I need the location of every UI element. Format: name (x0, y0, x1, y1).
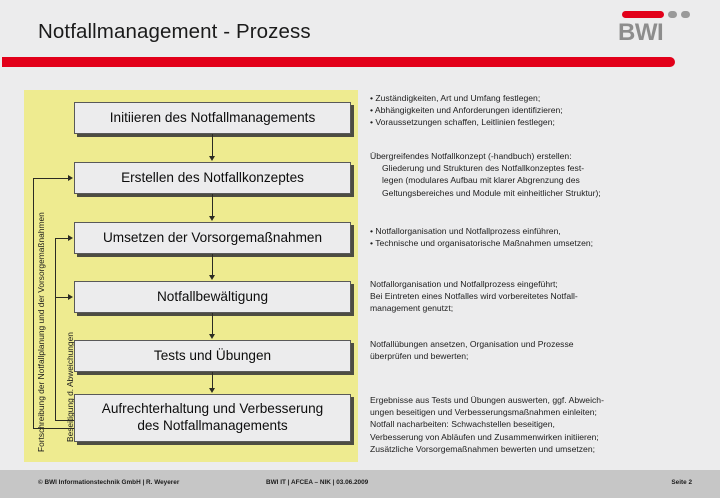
connector-1-2 (212, 134, 213, 157)
arrow-1-2-icon (209, 156, 215, 161)
note-block-3: • Notfallorganisation und Notfallprozess… (370, 225, 710, 249)
page-title: Notfallmanagement - Prozess (38, 20, 311, 44)
note-block-2: Übergreifendes Notfallkonzept (-handbuch… (370, 150, 710, 199)
process-step-6-line-2: des Notfallmanagements (137, 418, 287, 435)
arrow-3-4-icon (209, 275, 215, 280)
footer-event-info: BWI IT | AFCEA – NIK | 03.06.2009 (266, 479, 368, 486)
note-line: management genutzt; (370, 302, 710, 314)
footer-copyright: © BWI Informationstechnik GmbH | R. Weye… (38, 479, 179, 486)
footer-page-number: Seite 2 (671, 479, 692, 486)
note-line: Verbesserung von Abläufen und Zusammenwi… (370, 431, 710, 443)
note-line: • Technische und organisatorische Maßnah… (370, 237, 710, 249)
slide-footer: © BWI Informationstechnik GmbH | R. Weye… (0, 470, 720, 498)
note-line: • Notfallorganisation und Notfallprozess… (370, 225, 710, 237)
feedback-outer-left (33, 178, 34, 428)
connector-3-4 (212, 254, 213, 276)
note-block-4: Notfallorganisation und Notfallprozess e… (370, 278, 710, 315)
title-divider-rule (2, 57, 675, 67)
feedback-inner-arrow-3-icon (68, 235, 73, 241)
slide: Notfallmanagement - Prozess BWI Fortschr… (0, 0, 720, 498)
feedback-outer-arrow-icon (68, 175, 73, 181)
logo-dot-2-icon (681, 11, 690, 18)
feedback-outer-bottom (33, 428, 74, 429)
note-line: Geltungsbereiches und Module mit einheit… (370, 187, 710, 199)
logo-red-bar-icon (622, 11, 664, 18)
note-line: Übergreifendes Notfallkonzept (-handbuch… (370, 150, 710, 162)
note-line: legen (modulares Aufbau mit klarer Abgre… (370, 174, 710, 186)
note-line: Ergebnisse aus Tests und Übungen auswert… (370, 394, 710, 406)
note-line: • Voraussetzungen schaffen, Leitlinien f… (370, 116, 710, 128)
slide-header: Notfallmanagement - Prozess BWI (0, 0, 720, 70)
note-line: überprüfen und bewerten; (370, 350, 710, 362)
feedback-inner-arrow-4-icon (68, 294, 73, 300)
logo-wordmark: BWI (618, 19, 663, 47)
logo-dot-1-icon (668, 11, 677, 18)
process-step-2[interactable]: Erstellen des Notfallkonzeptes (74, 162, 351, 194)
process-step-5[interactable]: Tests und Übungen (74, 340, 351, 372)
feedback-inner-bottom (55, 420, 74, 421)
process-step-6-line-1: Aufrechterhaltung und Verbesserung (102, 401, 323, 418)
note-line: Bei Eintreten eines Notfalles wird vorbe… (370, 290, 710, 302)
process-step-4[interactable]: Notfallbewältigung (74, 281, 351, 313)
cycle-label-fortschreibung: Fortschreibung der Notfallplanung und de… (36, 212, 46, 452)
note-line: ungen beseitigen und Verbesserungsmaßnah… (370, 406, 710, 418)
process-diagram-panel: Fortschreibung der Notfallplanung und de… (24, 90, 358, 462)
process-step-3[interactable]: Umsetzen der Vorsorgemaßnahmen (74, 222, 351, 254)
feedback-outer-top (33, 178, 69, 179)
note-line: Notfall nacharbeiten: Schwachstellen bes… (370, 418, 710, 430)
process-notes-column: • Zuständigkeiten, Art und Umfang festle… (370, 92, 710, 464)
process-step-6[interactable]: Aufrechterhaltung und Verbesserung des N… (74, 394, 351, 442)
note-line: • Zuständigkeiten, Art und Umfang festle… (370, 92, 710, 104)
arrow-2-3-icon (209, 216, 215, 221)
arrow-5-6-icon (209, 388, 215, 393)
arrow-4-5-icon (209, 334, 215, 339)
feedback-inner-top (55, 238, 69, 239)
connector-5-6 (212, 372, 213, 389)
note-block-5: Notfallübungen ansetzen, Organisation un… (370, 338, 710, 362)
note-line: Gliederung und Strukturen des Notfallkon… (370, 162, 710, 174)
note-line: • Abhängigkeiten und Anforderungen ident… (370, 104, 710, 116)
connector-2-3 (212, 194, 213, 217)
note-block-6: Ergebnisse aus Tests und Übungen auswert… (370, 394, 710, 455)
feedback-inner-branch-4 (55, 297, 69, 298)
note-line: Zusätzliche Vorsorgemaßnahmen bewerten u… (370, 443, 710, 455)
note-block-1: • Zuständigkeiten, Art und Umfang festle… (370, 92, 710, 129)
process-step-1[interactable]: Initiieren des Notfallmanagements (74, 102, 351, 134)
note-line: Notfallorganisation und Notfallprozess e… (370, 278, 710, 290)
bwi-logo: BWI (614, 8, 702, 50)
feedback-inner-left (55, 238, 56, 420)
connector-4-5 (212, 313, 213, 335)
note-line: Notfallübungen ansetzen, Organisation un… (370, 338, 710, 350)
